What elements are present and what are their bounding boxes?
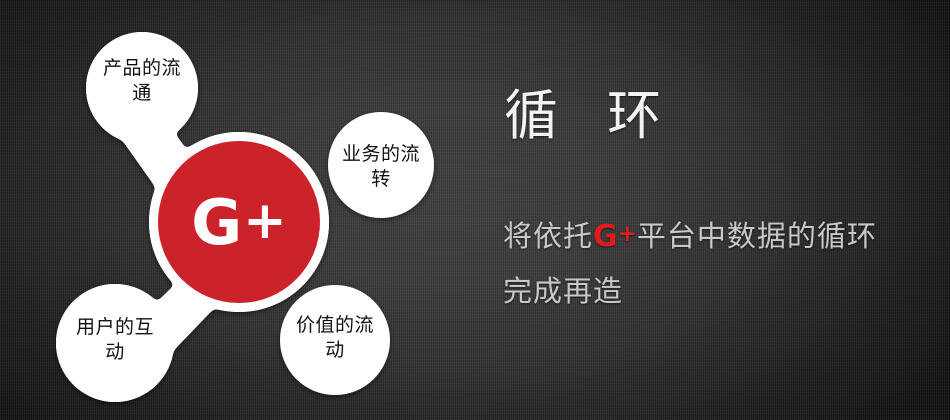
body-text-line-1: 将依托G+平台中数据的循环 [503,215,877,256]
body-text-suffix: 平台中数据的循环 [637,219,877,253]
body-text-prefix: 将依托 [503,219,593,253]
gplus-plus-sign: + [243,195,287,247]
inline-gplus-logo: G+ [593,219,637,254]
bubble-value-flow-circle[interactable] [280,285,390,395]
gplus-letter-g: G [191,192,241,254]
bubble-business-flow-circle[interactable] [328,112,434,218]
inline-gplus-plus: + [618,221,637,247]
page-title: 循 环 [504,86,677,146]
slide-canvas: G + 产品的流 通 业务的流 转 用户的互 动 价值的流 动 循 环 将依托G… [0,0,950,420]
right-text-column: 循 环 将依托G+平台中数据的循环 完成再造 [500,0,950,420]
body-text-line-2: 完成再造 [503,272,623,310]
inline-gplus-letter: G [593,219,618,254]
gplus-metaball-diagram: G + 产品的流 通 业务的流 转 用户的互 动 价值的流 动 [0,0,470,420]
google-plus-logo: G + [158,184,320,262]
